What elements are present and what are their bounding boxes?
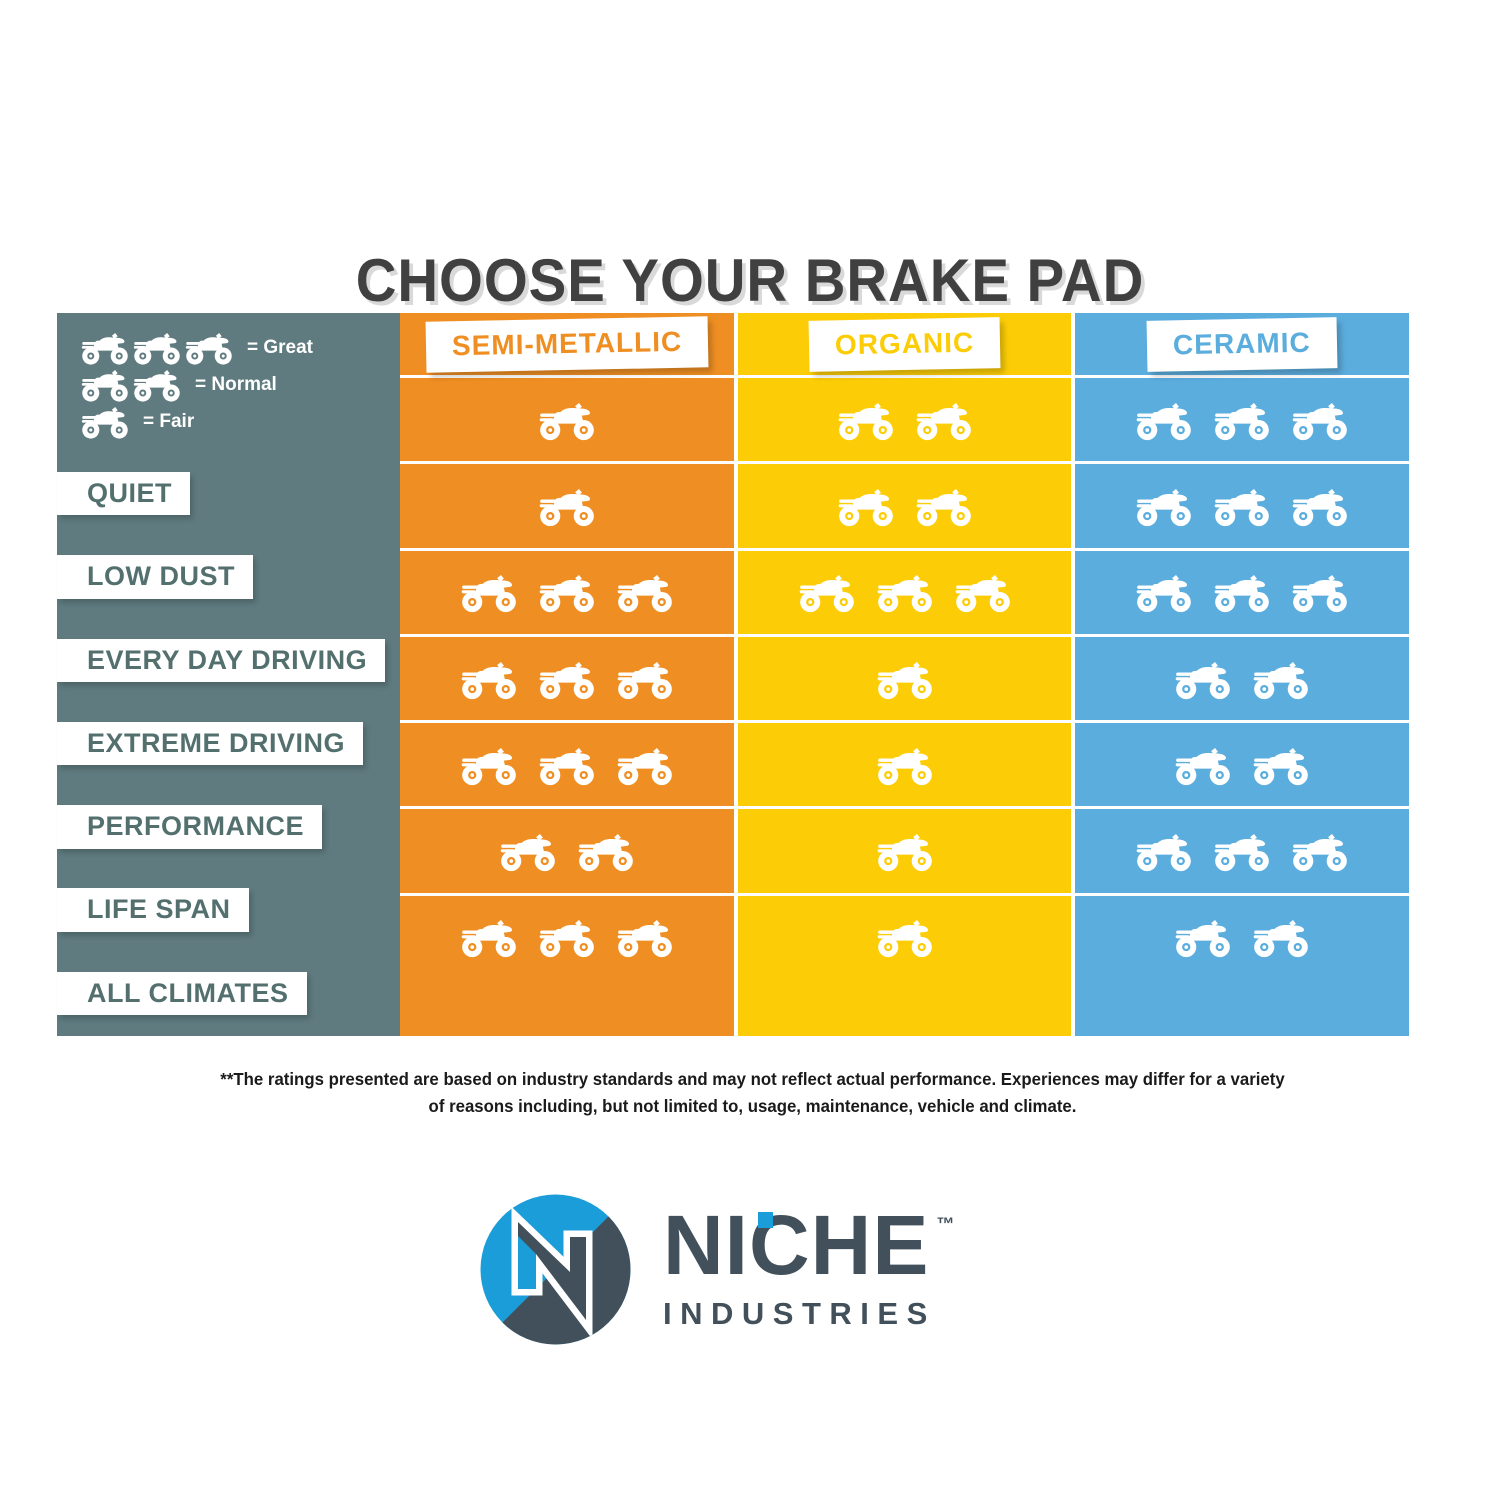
legend-item-fair: = Fair	[79, 403, 399, 440]
cell-ceramic-low-dust	[1075, 461, 1409, 547]
atv-icon	[874, 569, 936, 615]
logo-word-niche: NICHE ™	[663, 1206, 929, 1286]
atv-icon	[575, 828, 637, 874]
row-label-performance: PERFORMANCE	[57, 785, 400, 868]
atv-icon	[1250, 656, 1312, 702]
atv-icon	[536, 569, 598, 615]
legend-label-normal: = Normal	[195, 374, 277, 396]
atv-icon	[79, 402, 131, 441]
atv-icon	[79, 365, 131, 404]
cell-semi-metallic-extreme-driving	[400, 634, 734, 720]
niche-industries-logo: NICHE ™ INDUSTRIES	[478, 1192, 1038, 1367]
row-label-text: LOW DUST	[57, 555, 253, 598]
cell-ceramic-performance	[1075, 720, 1409, 806]
legend-item-great: = Great	[79, 329, 399, 366]
row-label-low-dust: LOW DUST	[57, 535, 400, 618]
legend-item-normal: = Normal	[79, 366, 399, 403]
logo-subtitle: INDUSTRIES	[663, 1296, 936, 1332]
cell-semi-metallic-all-climates	[400, 893, 734, 979]
cell-ceramic-life-span	[1075, 806, 1409, 892]
legend-label-great: = Great	[247, 337, 313, 359]
atv-icon	[913, 483, 975, 529]
column-header-semi-metallic: SEMI-METALLIC	[400, 313, 734, 375]
legend-icons-normal	[79, 365, 183, 404]
atv-icon	[1289, 828, 1351, 874]
niche-n-mark-icon	[478, 1192, 633, 1347]
legend-icons-great	[79, 328, 235, 367]
atv-icon	[1133, 483, 1195, 529]
column-semi-metallic[interactable]: SEMI-METALLIC	[400, 313, 734, 1036]
atv-icon	[1250, 914, 1312, 960]
atv-icon	[796, 569, 858, 615]
column-header-label: ORGANIC	[808, 317, 1000, 372]
atv-icon	[1289, 397, 1351, 443]
logo-wordmark: NICHE ™ INDUSTRIES	[663, 1192, 936, 1332]
atv-icon	[458, 569, 520, 615]
cell-semi-metallic-performance	[400, 720, 734, 806]
cell-organic-extreme-driving	[738, 634, 1072, 720]
row-label-all-climates: ALL CLIMATES	[57, 952, 400, 1035]
column-header-ceramic: CERAMIC	[1075, 313, 1409, 375]
page-title: CHOOSE YOUR BRAKE PAD	[45, 246, 1455, 315]
atv-icon	[835, 397, 897, 443]
cell-semi-metallic-low-dust	[400, 461, 734, 547]
chart-sidebar: = Great = Normal = Fair QUIET	[57, 313, 400, 1036]
chart-columns: SEMI-METALLIC ORGANIC CE	[400, 313, 1409, 1036]
column-ceramic[interactable]: CERAMIC	[1075, 313, 1409, 1036]
row-label-text: LIFE SPAN	[57, 888, 249, 931]
cell-organic-low-dust	[738, 461, 1072, 547]
atv-icon	[1172, 742, 1234, 788]
atv-icon	[183, 328, 235, 367]
logo-trademark-symbol: ™	[936, 1216, 955, 1233]
atv-icon	[1211, 397, 1273, 443]
atv-icon	[536, 397, 598, 443]
atv-icon	[1211, 569, 1273, 615]
cell-organic-quiet	[738, 375, 1072, 461]
atv-icon	[913, 397, 975, 443]
atv-icon	[874, 742, 936, 788]
atv-icon	[1211, 828, 1273, 874]
column-organic[interactable]: ORGANIC	[738, 313, 1072, 1036]
atv-icon	[614, 914, 676, 960]
atv-icon	[874, 656, 936, 702]
brake-pad-comparison-chart: = Great = Normal = Fair QUIET	[57, 313, 1409, 1036]
row-label-extreme-driving: EXTREME DRIVING	[57, 702, 400, 785]
row-label-text: EXTREME DRIVING	[57, 722, 363, 765]
atv-icon	[536, 656, 598, 702]
atv-icon	[952, 569, 1014, 615]
logo-i-dot-accent	[758, 1212, 773, 1228]
cell-ceramic-all-climates	[1075, 893, 1409, 979]
cell-organic-performance	[738, 720, 1072, 806]
row-label-every-day-driving: EVERY DAY DRIVING	[57, 619, 400, 702]
atv-icon	[1133, 569, 1195, 615]
atv-icon	[497, 828, 559, 874]
atv-icon	[874, 828, 936, 874]
atv-icon	[536, 914, 598, 960]
logo-word-text: NICHE	[663, 1198, 929, 1292]
column-header-label: CERAMIC	[1147, 317, 1338, 372]
atv-icon	[1211, 483, 1273, 529]
atv-icon	[1133, 828, 1195, 874]
atv-icon	[131, 328, 183, 367]
cell-ceramic-quiet	[1075, 375, 1409, 461]
row-label-text: PERFORMANCE	[57, 805, 322, 848]
atv-icon	[131, 365, 183, 404]
atv-icon	[1289, 569, 1351, 615]
cell-semi-metallic-life-span	[400, 806, 734, 892]
cell-organic-life-span	[738, 806, 1072, 892]
cell-ceramic-extreme-driving	[1075, 634, 1409, 720]
atv-icon	[536, 742, 598, 788]
row-label-list: QUIET LOW DUST EVERY DAY DRIVING EXTREME…	[57, 452, 400, 1035]
atv-icon	[1133, 397, 1195, 443]
row-label-text: ALL CLIMATES	[57, 972, 307, 1015]
atv-icon	[1172, 914, 1234, 960]
atv-icon	[614, 742, 676, 788]
atv-icon	[1172, 656, 1234, 702]
atv-icon	[1289, 483, 1351, 529]
atv-icon	[458, 656, 520, 702]
cell-organic-all-climates	[738, 893, 1072, 979]
cell-semi-metallic-quiet	[400, 375, 734, 461]
atv-icon	[79, 328, 131, 367]
column-header-organic: ORGANIC	[738, 313, 1072, 375]
cell-organic-every-day-driving	[738, 548, 1072, 634]
atv-icon	[536, 483, 598, 529]
legend-icons-fair	[79, 402, 131, 441]
cell-semi-metallic-every-day-driving	[400, 548, 734, 634]
cell-ceramic-every-day-driving	[1075, 548, 1409, 634]
disclaimer-footnote: **The ratings presented are based on ind…	[217, 1066, 1287, 1120]
disclaimer-line-1: **The ratings presented are based on ind…	[220, 1069, 1226, 1089]
row-label-text: EVERY DAY DRIVING	[57, 639, 385, 682]
row-label-quiet: QUIET	[57, 452, 400, 535]
rating-legend: = Great = Normal = Fair	[79, 329, 399, 440]
atv-icon	[874, 914, 936, 960]
atv-icon	[614, 569, 676, 615]
row-label-life-span: LIFE SPAN	[57, 868, 400, 951]
legend-label-fair: = Fair	[143, 411, 194, 433]
row-label-text: QUIET	[57, 472, 190, 515]
atv-icon	[458, 914, 520, 960]
atv-icon	[614, 656, 676, 702]
atv-icon	[1250, 742, 1312, 788]
atv-icon	[458, 742, 520, 788]
column-header-label: SEMI-METALLIC	[425, 316, 708, 372]
atv-icon	[835, 483, 897, 529]
